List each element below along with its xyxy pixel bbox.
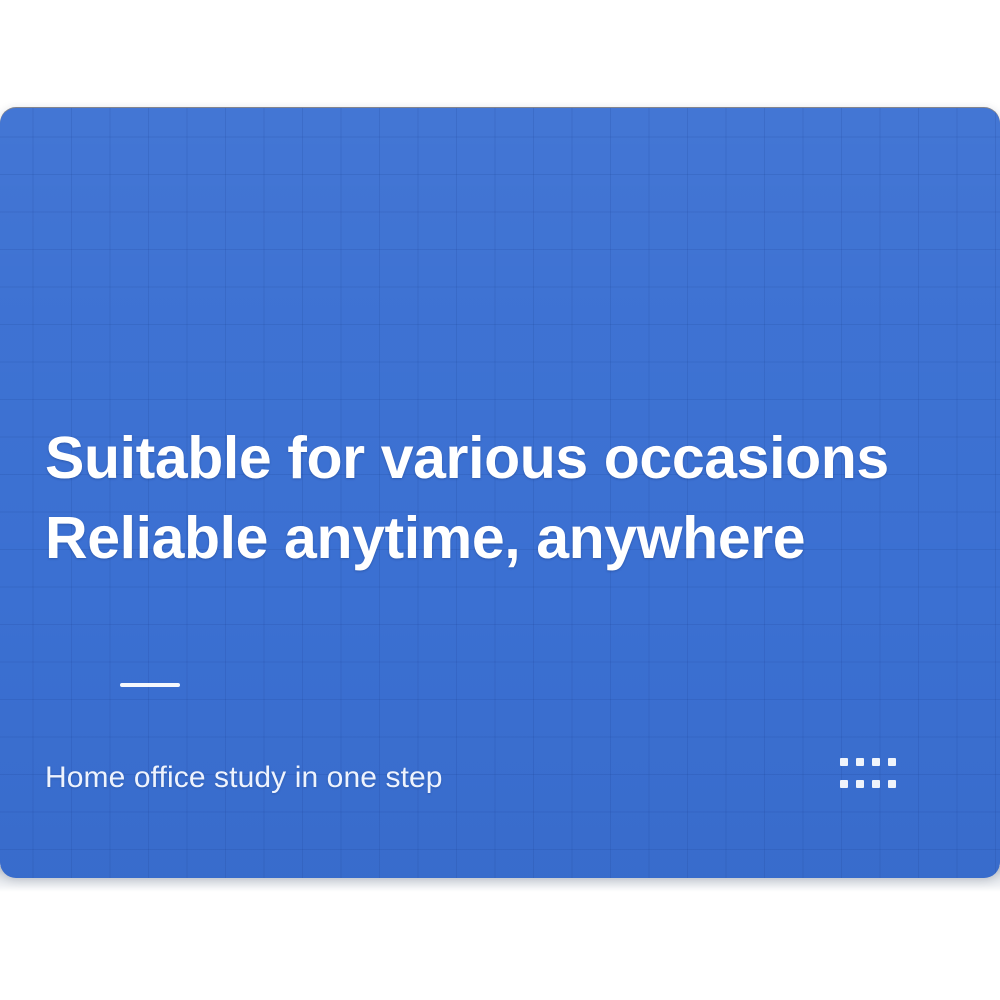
grid-dot bbox=[888, 780, 896, 788]
headline-line-2: Reliable anytime, anywhere bbox=[45, 498, 925, 578]
accent-rule-divider bbox=[120, 683, 180, 687]
banner-subtitle: Home office study in one step bbox=[45, 759, 443, 797]
grid-dot bbox=[840, 758, 848, 766]
grid-dot bbox=[888, 758, 896, 766]
decorative-dot-grid bbox=[840, 758, 896, 788]
headline-line-1: Suitable for various occasions bbox=[45, 418, 925, 498]
banner-headline: Suitable for various occasions Reliable … bbox=[45, 418, 925, 578]
screenshot-stage: Suitable for various occasions Reliable … bbox=[0, 0, 1000, 1000]
grid-dot bbox=[856, 758, 864, 766]
grid-dot bbox=[840, 780, 848, 788]
banner-content: Suitable for various occasions Reliable … bbox=[0, 108, 1000, 878]
grid-dot bbox=[856, 780, 864, 788]
grid-dot bbox=[872, 758, 880, 766]
promo-banner-card[interactable]: Suitable for various occasions Reliable … bbox=[0, 108, 1000, 878]
grid-dot bbox=[872, 780, 880, 788]
